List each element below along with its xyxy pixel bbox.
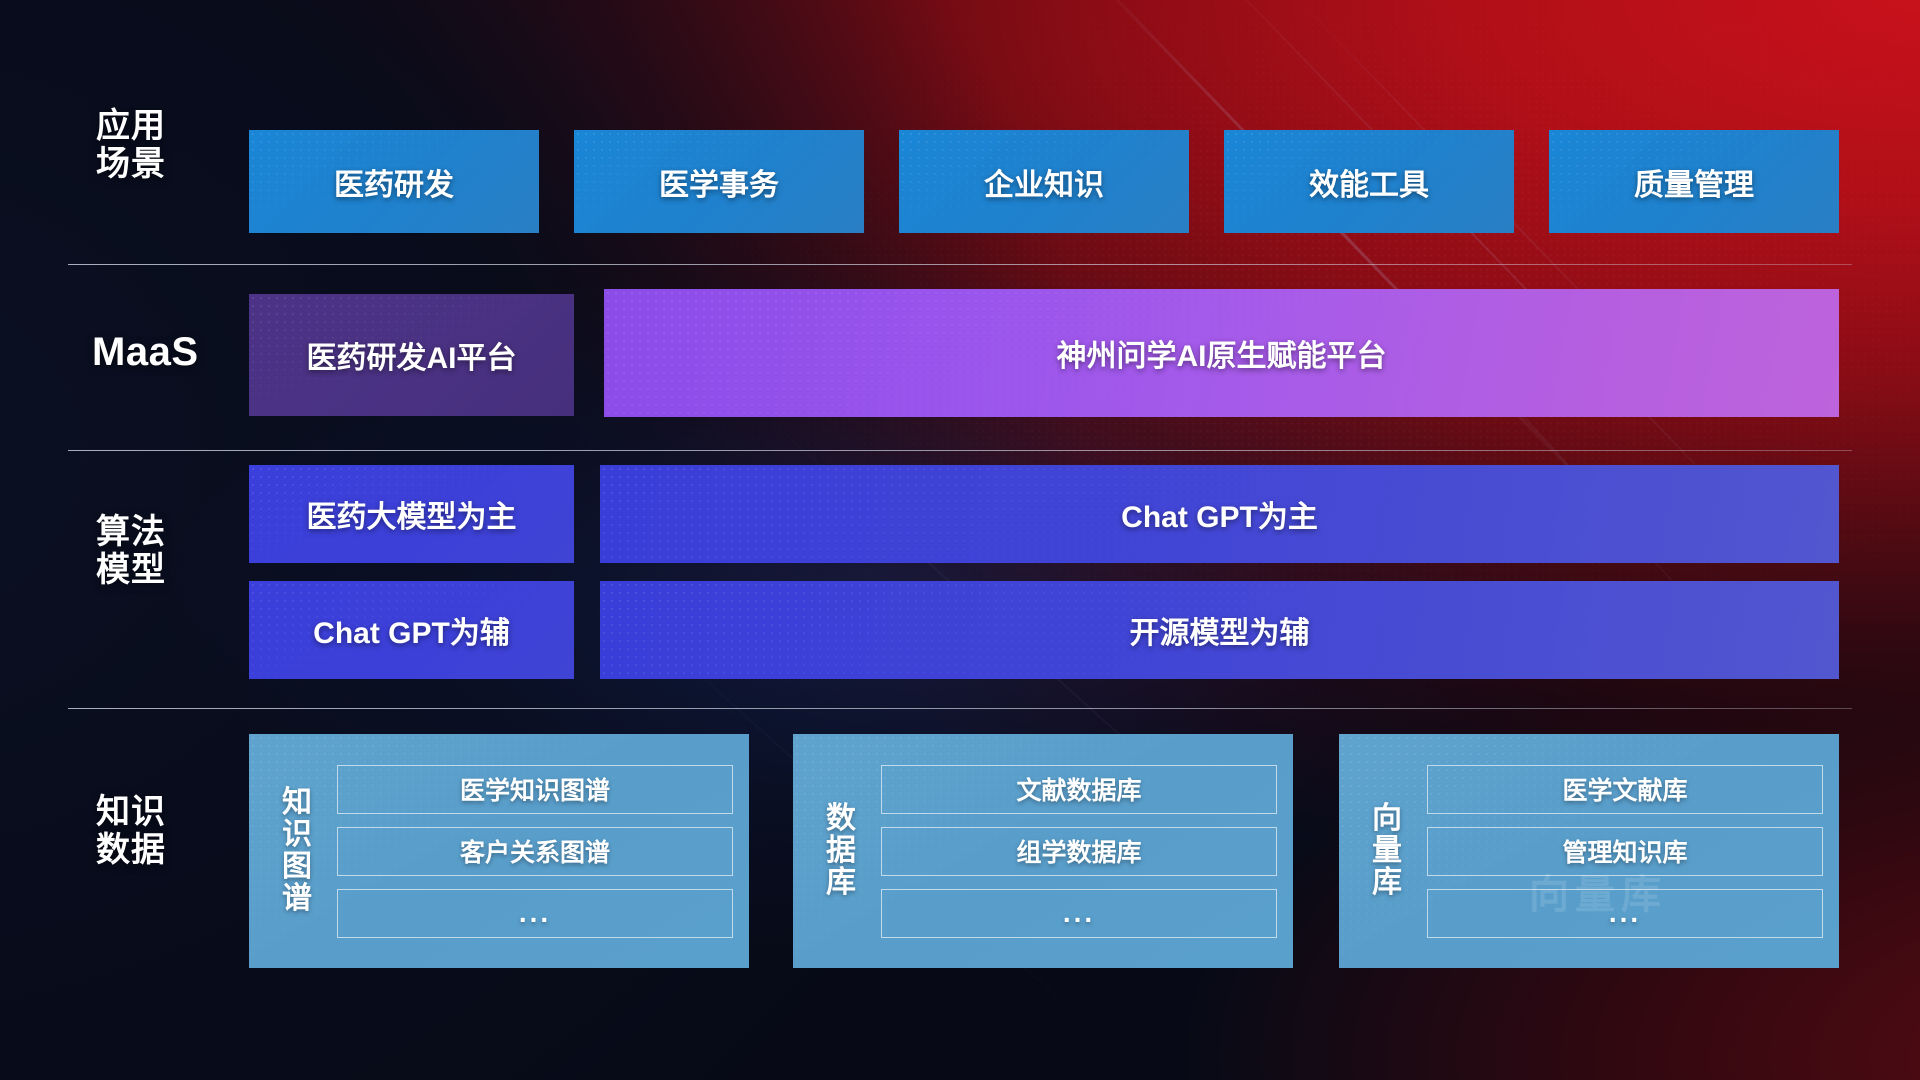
- scenario-box-quality-management[interactable]: 质量管理: [1549, 130, 1839, 233]
- row-label-line: 场景: [96, 145, 216, 183]
- title-char: 知: [269, 787, 325, 819]
- maas-box-shenzhou-wenxue-platform[interactable]: 神州问学AI原生赋能平台: [604, 289, 1839, 417]
- row-label-line: 知识: [96, 793, 216, 831]
- scenario-box-label: 效能工具: [1309, 160, 1429, 204]
- knowledge-card-vector-store[interactable]: 向量库 向 量 库 医学文献库 管理知识库 ...: [1339, 734, 1839, 968]
- knowledge-card-title-database: 数 据 库: [813, 803, 869, 899]
- row-label-maas: MaaS: [92, 330, 252, 375]
- scenario-box-label: 医学事务: [659, 160, 779, 204]
- title-char: 库: [1359, 867, 1415, 899]
- title-char: 数: [813, 803, 869, 835]
- row-divider: [68, 264, 1852, 265]
- architecture-diagram-canvas: 应用 场景 医药研发 医学事务 企业知识 效能工具 质量管理 MaaS: [0, 0, 1920, 1080]
- knowledge-item[interactable]: 组学数据库: [881, 827, 1277, 876]
- algo-box-pharma-llm-primary[interactable]: 医药大模型为主: [249, 465, 574, 563]
- scenario-box-pharma-rnd[interactable]: 医药研发: [249, 130, 539, 233]
- algo-box-label: 开源模型为辅: [1130, 608, 1310, 652]
- knowledge-card-item-list: 医学文献库 管理知识库 ...: [1427, 765, 1823, 938]
- title-char: 量: [1359, 835, 1415, 867]
- scenario-box-medical-affairs[interactable]: 医学事务: [574, 130, 864, 233]
- row-label-line: 数据: [96, 831, 216, 869]
- knowledge-item[interactable]: 文献数据库: [881, 765, 1277, 814]
- knowledge-card-title-vector-store: 向 量 库: [1359, 803, 1415, 899]
- maas-box-label: 医药研发AI平台: [307, 333, 517, 377]
- scenario-box-efficiency-tools[interactable]: 效能工具: [1224, 130, 1514, 233]
- row-label-line: 应用: [96, 107, 216, 145]
- maas-box-pharma-ai-platform[interactable]: 医药研发AI平台: [249, 294, 574, 416]
- knowledge-card-title-knowledge-graph: 知 识 图 谱: [269, 787, 325, 915]
- algo-box-opensource-secondary[interactable]: 开源模型为辅: [600, 581, 1839, 679]
- scenario-box-label: 企业知识: [984, 160, 1104, 204]
- knowledge-card-database[interactable]: 数 据 库 文献数据库 组学数据库 ...: [793, 734, 1293, 968]
- title-char: 谱: [269, 883, 325, 915]
- row-label-algorithm-models: 算法 模型: [96, 513, 216, 589]
- knowledge-card-item-list: 医学知识图谱 客户关系图谱 ...: [337, 765, 733, 938]
- knowledge-item[interactable]: 医学文献库: [1427, 765, 1823, 814]
- row-label-line: 算法: [96, 513, 216, 551]
- title-char: 库: [813, 867, 869, 899]
- algo-box-label: Chat GPT为辅: [313, 608, 510, 652]
- row-label-knowledge-data: 知识 数据: [96, 793, 216, 869]
- algo-box-chatgpt-primary[interactable]: Chat GPT为主: [600, 465, 1839, 563]
- knowledge-item-more[interactable]: ...: [1427, 889, 1823, 938]
- row-label-line: MaaS: [92, 330, 252, 375]
- row-label-line: 模型: [96, 551, 216, 589]
- knowledge-item-more[interactable]: ...: [881, 889, 1277, 938]
- scenario-box-label: 质量管理: [1634, 160, 1754, 204]
- row-label-application-scenarios: 应用 场景: [96, 107, 216, 183]
- title-char: 据: [813, 835, 869, 867]
- row-divider: [68, 450, 1852, 451]
- algo-box-label: Chat GPT为主: [1121, 492, 1318, 536]
- title-char: 向: [1359, 803, 1415, 835]
- knowledge-item[interactable]: 客户关系图谱: [337, 827, 733, 876]
- maas-box-label: 神州问学AI原生赋能平台: [1057, 331, 1387, 375]
- scenario-box-label: 医药研发: [334, 160, 454, 204]
- knowledge-card-item-list: 文献数据库 组学数据库 ...: [881, 765, 1277, 938]
- algo-box-chatgpt-secondary[interactable]: Chat GPT为辅: [249, 581, 574, 679]
- scenario-box-enterprise-knowledge[interactable]: 企业知识: [899, 130, 1189, 233]
- knowledge-item-more[interactable]: ...: [337, 889, 733, 938]
- title-char: 识: [269, 819, 325, 851]
- knowledge-card-knowledge-graph[interactable]: 知 识 图 谱 医学知识图谱 客户关系图谱 ...: [249, 734, 749, 968]
- title-char: 图: [269, 851, 325, 883]
- knowledge-item[interactable]: 管理知识库: [1427, 827, 1823, 876]
- knowledge-item[interactable]: 医学知识图谱: [337, 765, 733, 814]
- algo-box-label: 医药大模型为主: [307, 492, 517, 536]
- row-divider: [68, 708, 1852, 709]
